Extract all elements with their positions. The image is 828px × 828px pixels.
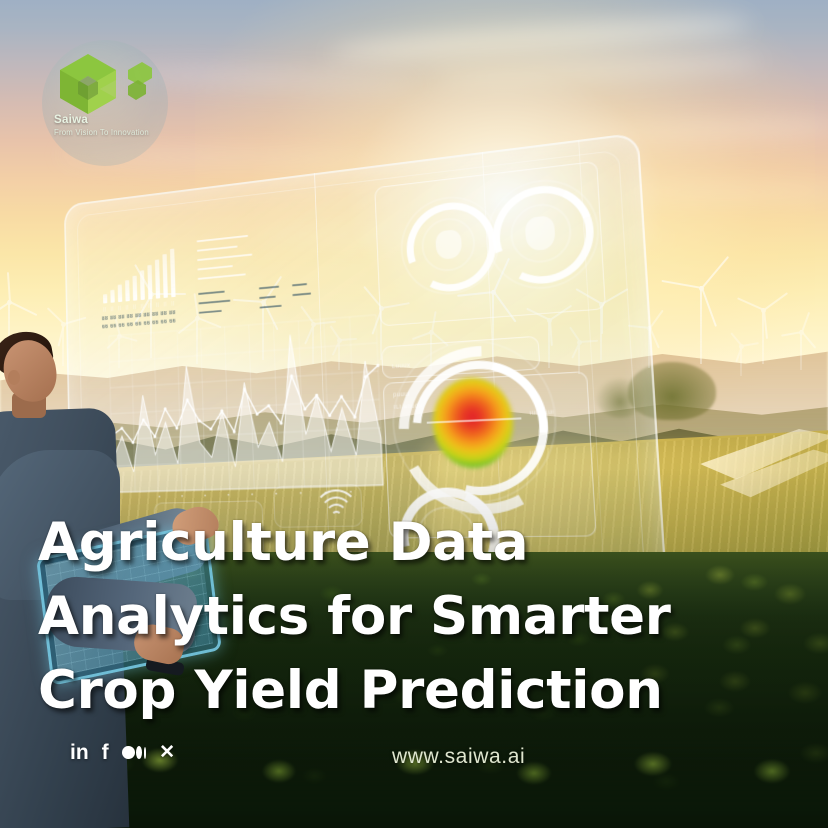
hud-axis-tick: || (156, 302, 159, 308)
hud-data-cell: 88 (161, 311, 168, 317)
hud-bar (162, 254, 167, 298)
headline-line-1: Agriculture Data (38, 506, 678, 580)
logo-tagline: From Vision To Innovation (54, 128, 168, 137)
hud-axis-tick: • (251, 493, 254, 499)
wind-turbine (700, 286, 702, 364)
hud-axis-tick: • (204, 494, 206, 500)
hud-bar (147, 265, 152, 300)
linkedin-icon[interactable]: in (70, 742, 89, 763)
hud-data-cell: 66 (144, 321, 150, 327)
logo-brand-name: Saiwa (54, 114, 158, 126)
hud-data-cell: 66 (127, 322, 133, 328)
hud-data-cell: 66 (152, 320, 159, 326)
hud-axis-tick: || (141, 304, 144, 310)
hud-data-cell: 88 (102, 316, 108, 322)
poster-canvas: |||||||||||||||||||| 8888888888888888886… (0, 0, 828, 828)
hud-data-cell: 88 (118, 315, 124, 321)
hud-data-cell: 88 (110, 315, 116, 321)
hud-bar (103, 294, 107, 304)
headline-line-3: Crop Yield Prediction (38, 654, 678, 728)
hud-bar (125, 280, 130, 302)
hud-data-cell: 66 (119, 323, 125, 329)
saiwa-isometric-bracket-logo (54, 48, 158, 118)
social-links[interactable]: in f ✕ (70, 742, 175, 763)
medium-icon[interactable] (122, 746, 147, 759)
hud-axis-tick: • (300, 491, 303, 497)
hud-axis-tick: • (227, 493, 229, 499)
hud-bar-chart[interactable] (102, 248, 181, 304)
page-title: Agriculture Data Analytics for Smarter C… (38, 506, 678, 728)
hud-data-cell: 88 (144, 312, 150, 318)
hud-bar (140, 270, 145, 300)
hud-axis-tick: || (126, 305, 129, 311)
wind-turbine (740, 344, 742, 376)
website-url[interactable]: www.saiwa.ai (392, 745, 525, 769)
hud-axis-tick: • (275, 492, 278, 498)
hud-axis-tick: || (171, 301, 174, 307)
hud-bar (118, 285, 123, 302)
wind-turbine (800, 330, 802, 370)
hud-axis-tick: || (103, 307, 106, 313)
hud-data-cell: 88 (127, 314, 133, 320)
hud-data-cell: 88 (169, 310, 176, 316)
hud-axis-tick: || (148, 303, 151, 309)
hud-data-cell: 66 (169, 319, 176, 325)
headline-line-2: Analytics for Smarter (38, 580, 678, 654)
hud-data-cell: 66 (161, 319, 168, 325)
hud-axis-tick: || (111, 306, 114, 312)
hud-bar (170, 249, 176, 298)
hud-bar (132, 275, 137, 301)
x-twitter-icon[interactable]: ✕ (159, 743, 175, 762)
hud-axis-tick: || (133, 304, 136, 310)
hud-axis-tick: || (118, 306, 121, 312)
hud-bar (155, 259, 160, 299)
ear (8, 370, 20, 385)
hud-data-cell: 88 (152, 312, 159, 318)
facebook-icon[interactable]: f (102, 742, 109, 763)
hud-axis-tick: || (164, 302, 167, 308)
hud-data-cell: 88 (135, 313, 141, 319)
brand-logo[interactable]: Saiwa From Vision To Innovation (42, 40, 168, 166)
hud-data-cell: 66 (135, 321, 141, 327)
hud-bar (110, 290, 114, 303)
hud-data-cell: 66 (110, 324, 116, 330)
wind-turbine (762, 308, 764, 364)
